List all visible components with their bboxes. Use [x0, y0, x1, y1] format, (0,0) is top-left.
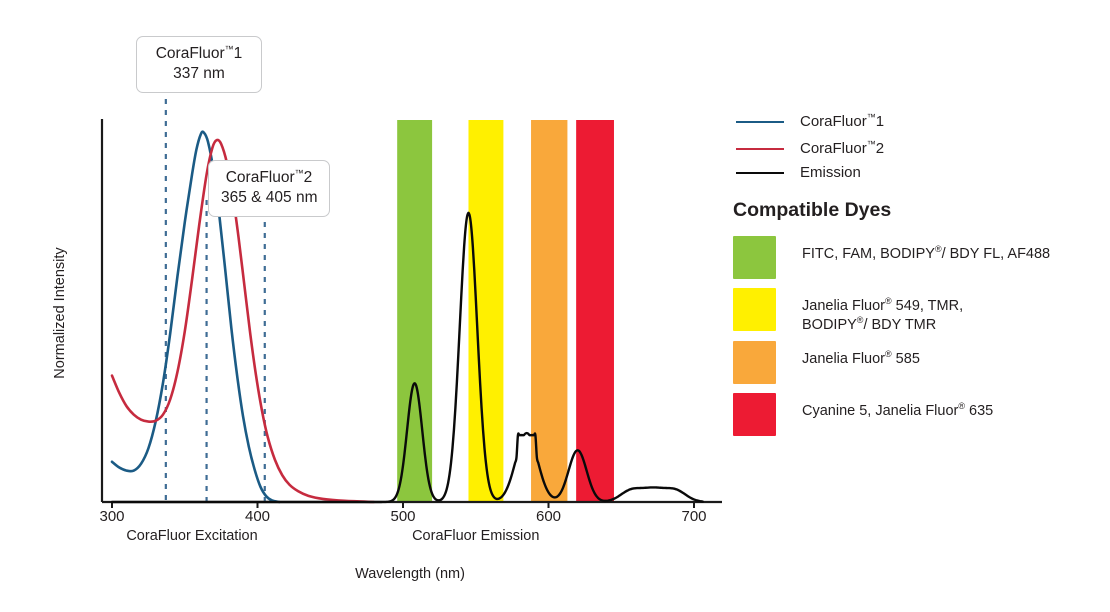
legend-label-corafluor2: CoraFluor™2	[800, 140, 884, 157]
figure-root: CoraFluor™1 337 nm CoraFluor™2 365 & 405…	[0, 0, 1110, 612]
dye-row-yellow: Janelia Fluor® 549, TMR, BODIPY®/ BDY TM…	[733, 288, 963, 335]
callout-corafluor1: CoraFluor™1 337 nm	[136, 36, 262, 93]
callout-corafluor2-line2: 365 & 405 nm	[221, 188, 317, 208]
dye-swatch-orange	[733, 341, 776, 384]
dye-swatch-green	[733, 236, 776, 279]
dye-row-orange: Janelia Fluor® 585	[733, 341, 920, 384]
compatible-dyes-title: Compatible Dyes	[733, 199, 891, 222]
red-band	[576, 120, 614, 502]
region-label-emission: CoraFluor Emission	[366, 528, 586, 544]
xtick-400: 400	[228, 508, 288, 525]
legend-item-corafluor1: CoraFluor™1	[736, 113, 884, 130]
green-band	[397, 120, 432, 502]
dye-swatch-red	[733, 393, 776, 436]
side-panel: CoraFluor™1 CoraFluor™2 Emission Compati…	[728, 0, 1110, 612]
callout-corafluor1-line2: 337 nm	[149, 64, 249, 84]
legend-label-corafluor1: CoraFluor™1	[800, 113, 884, 130]
callout-corafluor2-line1: CoraFluor™2	[221, 168, 317, 188]
legend-line-corafluor1	[736, 121, 784, 123]
xtick-600: 600	[519, 508, 579, 525]
dye-label-red: Cyanine 5, Janelia Fluor® 635	[802, 393, 993, 421]
region-label-excitation: CoraFluor Excitation	[82, 528, 302, 544]
dye-label-orange: Janelia Fluor® 585	[802, 341, 920, 369]
dye-label-yellow: Janelia Fluor® 549, TMR, BODIPY®/ BDY TM…	[802, 288, 963, 335]
legend-line-corafluor2	[736, 148, 784, 150]
callout-corafluor1-line1: CoraFluor™1	[149, 44, 249, 64]
legend-line-emission	[736, 172, 784, 174]
y-axis-label: Normalized Intensity	[52, 223, 68, 403]
yellow-band	[468, 120, 503, 502]
dye-swatch-yellow	[733, 288, 776, 331]
callout-corafluor2: CoraFluor™2 365 & 405 nm	[208, 160, 330, 217]
dye-row-green: FITC, FAM, BODIPY®/ BDY FL, AF488	[733, 236, 1050, 279]
xtick-500: 500	[373, 508, 433, 525]
legend-item-corafluor2: CoraFluor™2	[736, 140, 884, 157]
dye-label-green: FITC, FAM, BODIPY®/ BDY FL, AF488	[802, 236, 1050, 264]
xtick-300: 300	[82, 508, 142, 525]
dye-row-red: Cyanine 5, Janelia Fluor® 635	[733, 393, 993, 436]
x-axis-label: Wavelength (nm)	[290, 566, 530, 582]
xtick-700: 700	[664, 508, 724, 525]
legend-item-emission: Emission	[736, 164, 861, 181]
legend-label-emission: Emission	[800, 164, 861, 181]
